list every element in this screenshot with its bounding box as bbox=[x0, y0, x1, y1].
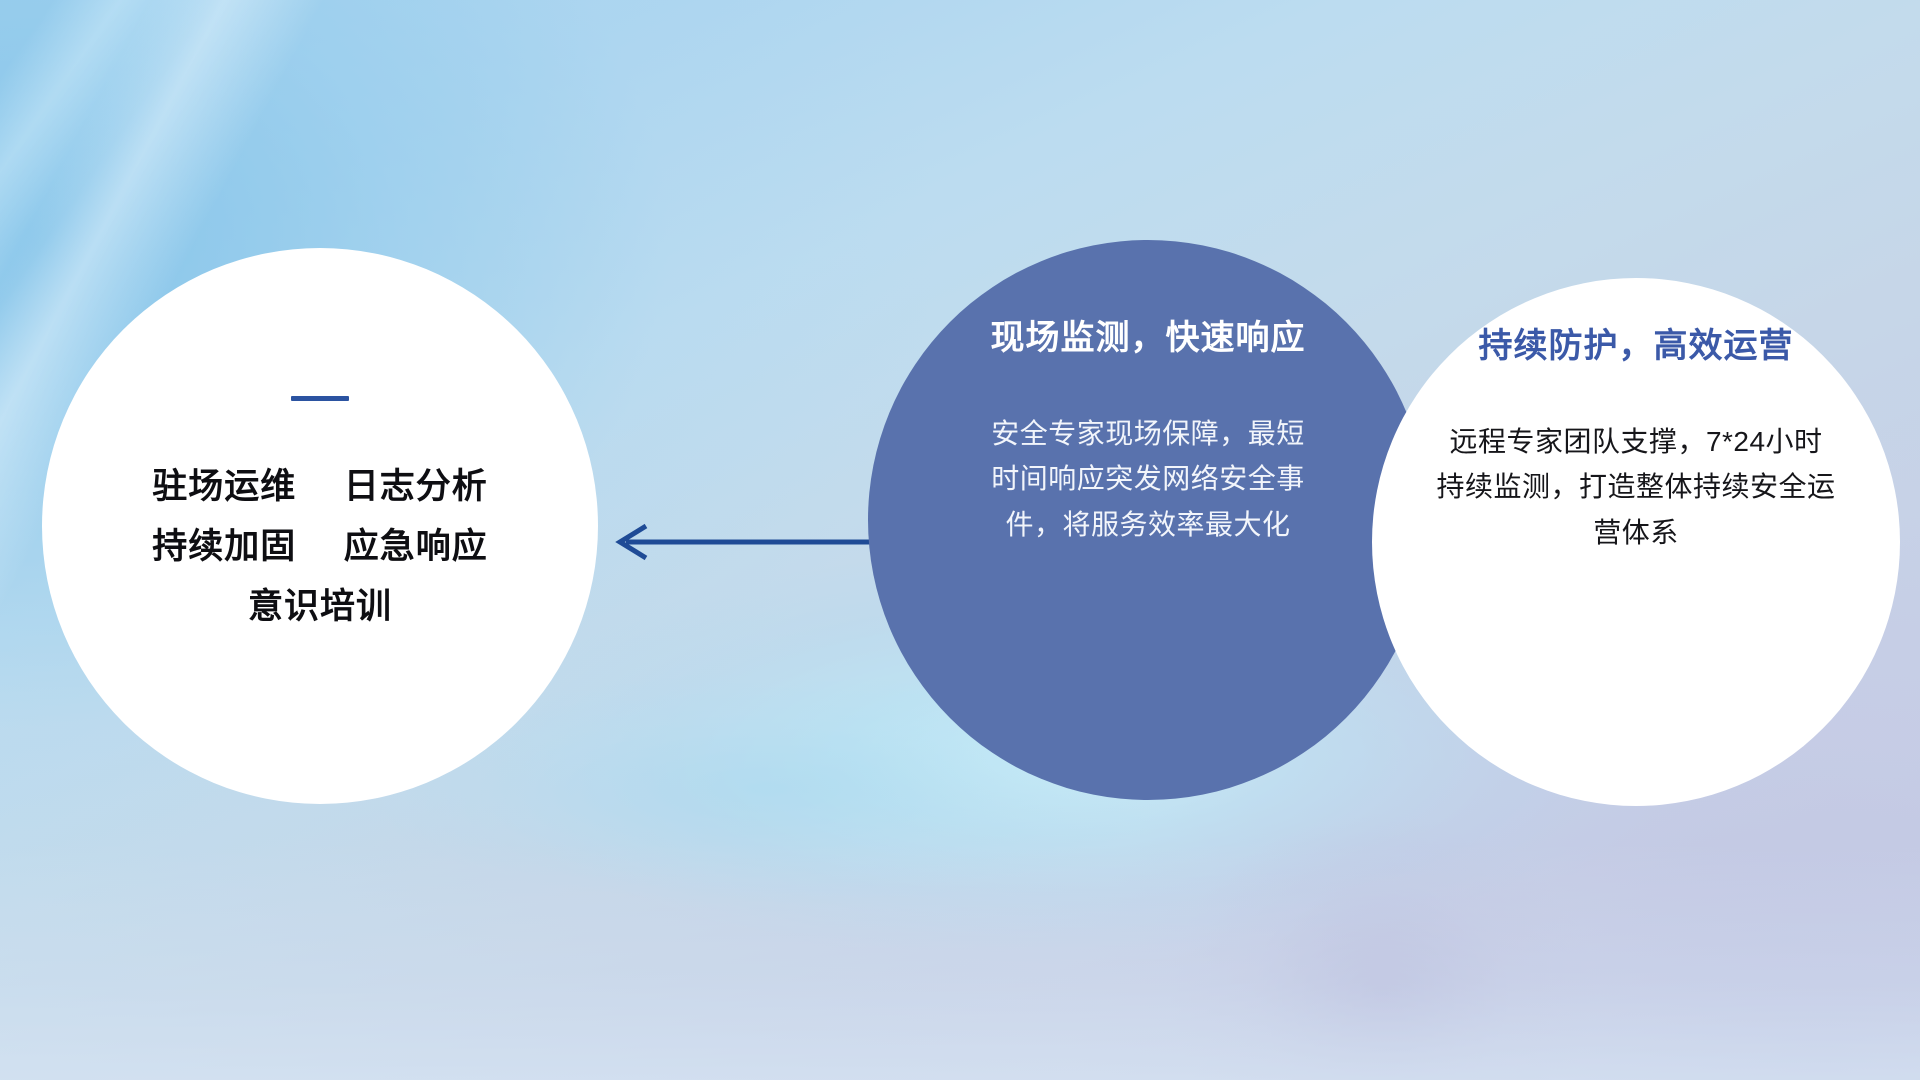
capability-item-3: 持续加固 bbox=[152, 527, 296, 566]
center-onsite-circle: 现场监测，快速响应 安全专家现场保障，最短时间响应突发网络安全事件，将服务效率最… bbox=[868, 240, 1428, 800]
center-circle-title: 现场监测，快速响应 bbox=[991, 310, 1306, 359]
capability-row-3: 意识培训 bbox=[152, 577, 488, 637]
slide-canvas: 驻场运维 日志分析 持续加固 应急响应 意识培训 现场监测，快速响应 安全专家现… bbox=[0, 0, 1920, 1080]
right-circle-body: 远程专家团队支撑，7*24小时持续监测，打造整体持续安全运营体系 bbox=[1436, 419, 1836, 555]
right-circle-content: 持续防护，高效运营 远程专家团队支撑，7*24小时持续监测，打造整体持续安全运营… bbox=[1372, 278, 1900, 806]
capability-list: 驻场运维 日志分析 持续加固 应急响应 意识培训 bbox=[152, 457, 488, 638]
capability-item-5: 意识培训 bbox=[248, 587, 392, 626]
capability-row-1: 驻场运维 日志分析 bbox=[152, 457, 488, 517]
center-circle-content: 现场监测，快速响应 安全专家现场保障，最短时间响应突发网络安全事件，将服务效率最… bbox=[868, 240, 1428, 800]
capability-row-2: 持续加固 应急响应 bbox=[152, 517, 488, 577]
capability-item-2: 日志分析 bbox=[344, 467, 488, 506]
right-operations-circle: 持续防护，高效运营 远程专家团队支撑，7*24小时持续监测，打造整体持续安全运营… bbox=[1372, 278, 1900, 806]
horizontal-dash-icon bbox=[291, 396, 349, 401]
capability-item-4: 应急响应 bbox=[344, 527, 488, 566]
left-capability-circle: 驻场运维 日志分析 持续加固 应急响应 意识培训 bbox=[42, 248, 598, 804]
left-circle-content: 驻场运维 日志分析 持续加固 应急响应 意识培训 bbox=[42, 248, 598, 804]
center-circle-body: 安全专家现场保障，最短时间响应突发网络安全事件，将服务效率最大化 bbox=[983, 411, 1313, 547]
right-circle-title: 持续防护，高效运营 bbox=[1479, 318, 1794, 367]
capability-item-1: 驻场运维 bbox=[152, 467, 296, 506]
